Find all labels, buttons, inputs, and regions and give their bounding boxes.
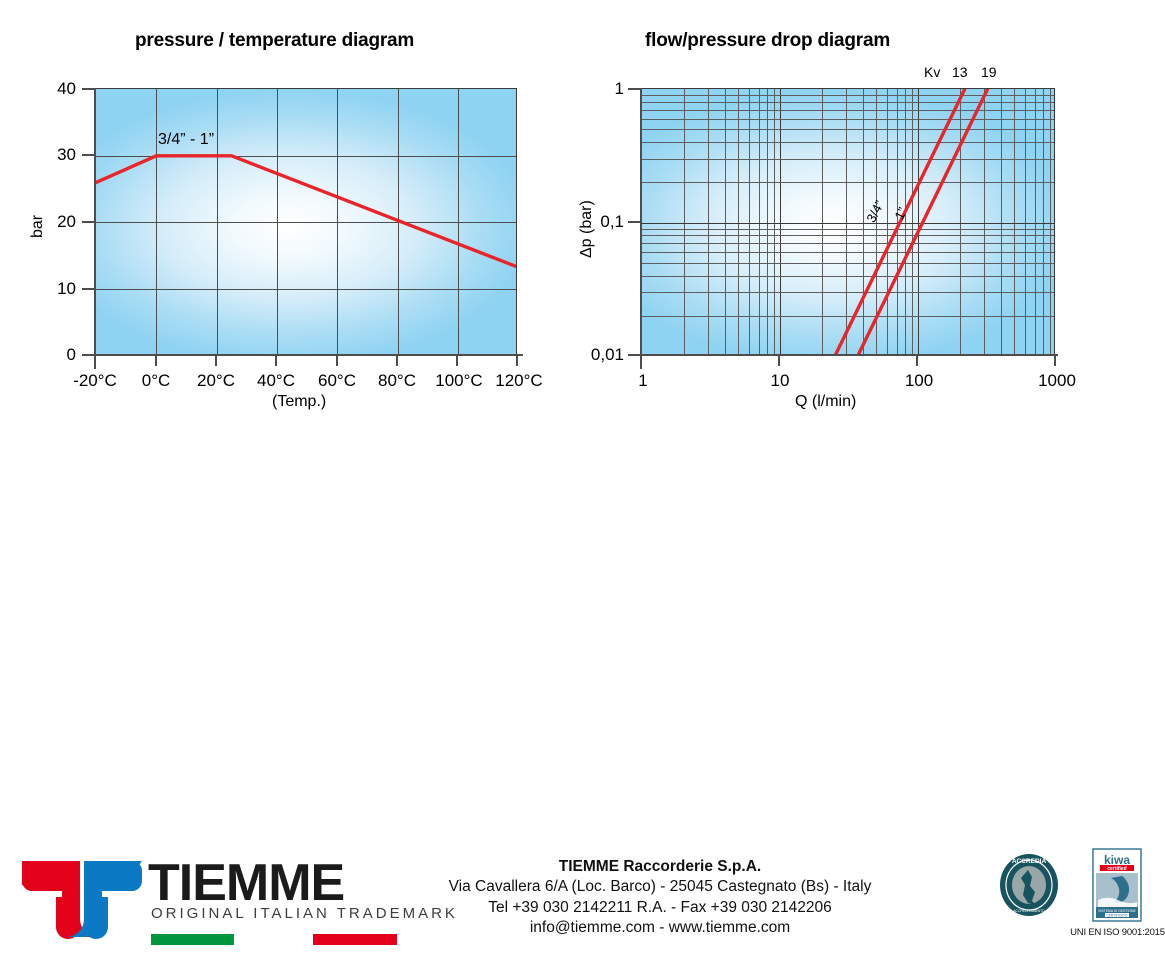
left-x-tick — [155, 354, 157, 366]
right-x-tick — [916, 354, 918, 366]
svg-text:ACCREDITAMENTO: ACCREDITAMENTO — [1013, 909, 1045, 913]
left-y-tick-label: 0 — [34, 345, 76, 365]
company-web: info@tiemme.com - www.tiemme.com — [405, 918, 915, 938]
left-y-tick — [82, 88, 94, 90]
gridline-h-major — [642, 223, 1054, 224]
gridline-h-minor — [642, 159, 1054, 160]
gridline-h-minor — [642, 235, 1054, 236]
gridline-h-minor — [642, 263, 1054, 264]
svg-text:certified: certified — [1107, 866, 1126, 872]
left-chart-title: pressure / temperature diagram — [135, 30, 414, 52]
right-y-axis-label: Δp (bar) — [578, 200, 596, 258]
right-y-axis — [640, 88, 642, 369]
right-y-tick-label: 1 — [572, 79, 624, 99]
gridline-h — [96, 222, 516, 223]
left-x-tick-label: 100°C — [435, 371, 482, 391]
gridline-h-minor — [642, 95, 1054, 96]
svg-text:SISTEMA DI GESTIONE: SISTEMA DI GESTIONE — [1098, 909, 1136, 913]
right-x-axis-label: Q (l/min) — [795, 393, 856, 411]
kv-legend-value-19: 19 — [981, 64, 997, 80]
left-x-tick-label: 120°C — [495, 371, 542, 391]
left-x-tick — [516, 354, 518, 366]
flow-pressure-drop-plot: 3/4” 1” — [641, 88, 1055, 355]
svg-text:ACCREDIA: ACCREDIA — [1012, 858, 1047, 865]
log-grid — [642, 89, 1054, 354]
right-y-tick — [628, 221, 640, 223]
left-y-axis-label: bar — [29, 215, 47, 238]
right-x-tick — [640, 354, 642, 366]
left-x-tick-label: 20°C — [197, 371, 235, 391]
accredia-certification-logo: ACCREDIA ACCREDITAMENTO — [998, 852, 1060, 918]
gridline-h — [96, 156, 516, 157]
left-chart-annotation: 3/4” - 1” — [158, 131, 214, 149]
right-x-tick — [778, 354, 780, 366]
left-y-tick-label: 10 — [34, 279, 76, 299]
svg-text:kiwa: kiwa — [1104, 853, 1130, 867]
left-x-tick — [94, 354, 96, 366]
gridline-h-minor — [642, 110, 1054, 111]
pressure-temperature-plot: 3/4” - 1” — [95, 88, 517, 355]
right-x-tick-label: 1 — [638, 371, 647, 391]
left-x-tick — [336, 354, 338, 366]
left-y-tick — [82, 288, 94, 290]
right-y-tick — [628, 88, 640, 90]
gridline-h-minor — [642, 243, 1054, 244]
left-y-tick — [82, 154, 94, 156]
gridline-h-minor — [642, 292, 1054, 293]
left-y-axis — [94, 88, 96, 369]
italian-flag-red-bar — [313, 934, 397, 945]
left-x-tick-label: 60°C — [318, 371, 356, 391]
left-x-tick-label: 0°C — [142, 371, 171, 391]
tiemme-wordmark: TIEMME — [148, 857, 344, 909]
left-y-tick-label: 40 — [34, 79, 76, 99]
right-y-tick-label: 0,01 — [572, 345, 624, 365]
footer: TIEMME ORIGINAL ITALIAN TRADEMARK TIEMME… — [0, 420, 1165, 550]
gridline-h-minor — [642, 119, 1054, 120]
iso-certification-text: UNI EN ISO 9001:2015 — [1070, 927, 1165, 938]
right-x-tick-label: 1000 — [1038, 371, 1076, 391]
svg-text:CERTIFICATO: CERTIFICATO — [1107, 913, 1128, 917]
left-y-tick-label: 30 — [34, 145, 76, 165]
right-x-tick-label: 100 — [905, 371, 933, 391]
gridline-h-minor — [642, 229, 1054, 230]
left-x-axis-label: (Temp.) — [272, 393, 326, 411]
right-x-tick — [1054, 354, 1056, 366]
gridline-h-minor — [642, 142, 1054, 143]
gridline-h-minor — [642, 276, 1054, 277]
left-y-tick — [82, 221, 94, 223]
right-x-axis — [628, 354, 1058, 356]
gridline-h-minor — [642, 129, 1054, 130]
left-x-tick — [456, 354, 458, 366]
company-address: Via Cavallera 6/A (Loc. Barco) - 25045 C… — [405, 877, 915, 897]
left-x-tick — [275, 354, 277, 366]
company-phone: Tel +39 030 2142211 R.A. - Fax +39 030 2… — [405, 898, 915, 918]
gridline-h-minor — [642, 252, 1054, 253]
right-chart-title: flow/pressure drop diagram — [645, 30, 890, 52]
page-root: pressure / temperature diagram 3/4” - 1”… — [0, 0, 1165, 550]
left-x-tick-label: 40°C — [257, 371, 295, 391]
gridline-h-minor — [642, 316, 1054, 317]
company-name: TIEMME Raccorderie S.p.A. — [405, 857, 915, 877]
gridline-h-minor — [642, 182, 1054, 183]
gridline-h — [96, 289, 516, 290]
gridline-h-minor — [642, 102, 1054, 103]
company-info: TIEMME Raccorderie S.p.A. Via Cavallera … — [405, 857, 915, 939]
left-x-tick-label: -20°C — [73, 371, 117, 391]
kv-legend-label: Kv — [924, 64, 940, 80]
kv-legend-value-13: 13 — [952, 64, 968, 80]
left-x-tick-label: 80°C — [378, 371, 416, 391]
italian-flag-green-bar — [151, 934, 234, 945]
kiwa-certification-logo: kiwa certified SISTEMA DI GESTIONE CERTI… — [1092, 848, 1142, 922]
tiemme-logo-mark — [18, 857, 146, 953]
left-x-tick — [215, 354, 217, 366]
left-x-tick — [396, 354, 398, 366]
right-y-tick — [628, 354, 640, 356]
right-x-tick-label: 10 — [771, 371, 790, 391]
left-y-tick — [82, 354, 94, 356]
